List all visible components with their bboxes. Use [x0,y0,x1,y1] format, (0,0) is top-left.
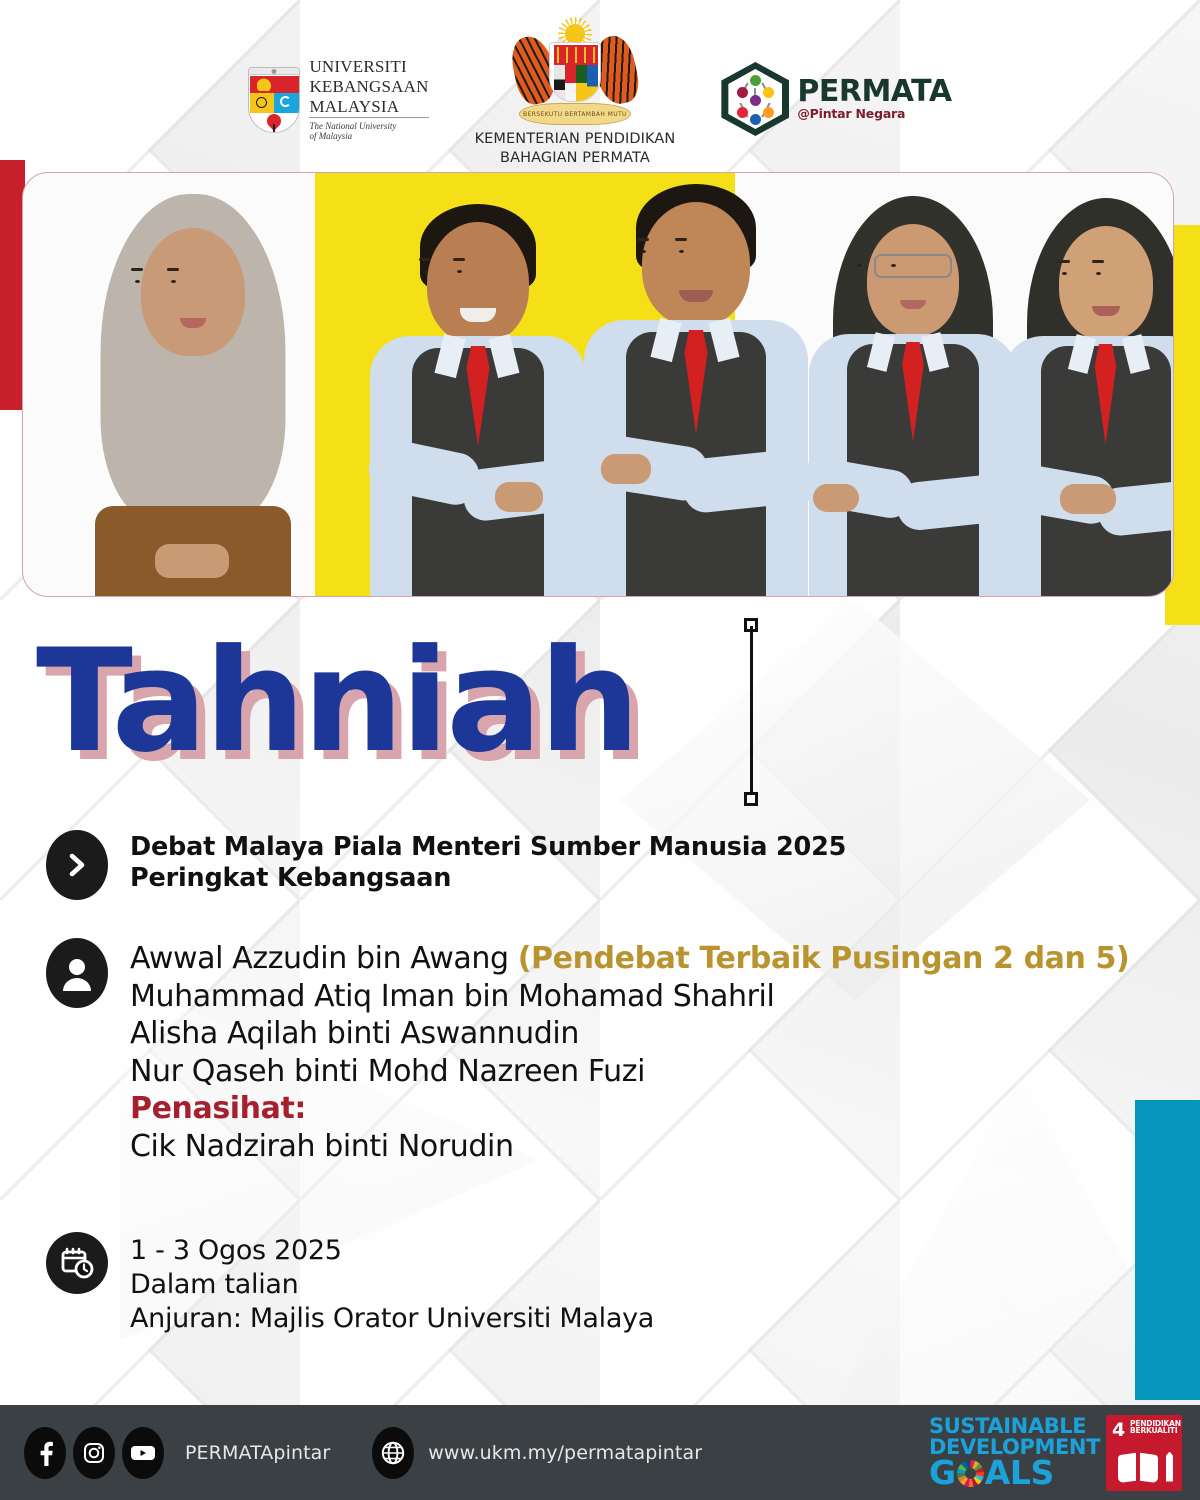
sdg-word-sustainable: SUSTAINABLE [929,1417,1100,1436]
event-mode: Dalam talian [130,1268,654,1302]
instagram-icon[interactable] [73,1427,115,1479]
jata-negara-icon: BERSEKUTU BERTAMBAH MUTU [500,22,650,127]
permata-hexagon-icon [721,62,789,136]
social-icons: PERMATApintar [24,1427,330,1479]
ukm-logo: UNIVERSITI KEBANGSAAN MALAYSIA The Natio… [248,22,428,141]
ukm-line-1: UNIVERSITI [309,58,428,75]
event-title-line-2: Peringkat Kebangsaan [130,863,846,894]
chevron-right-icon [46,830,108,900]
youtube-icon[interactable] [122,1427,164,1479]
calendar-clock-icon [46,1232,108,1294]
advisor-name: Cik Nadzirah binti Norudin [130,1128,1129,1166]
participant-name-1-text: Awwal Azzudin bin Awang [130,941,518,976]
team-photo [22,172,1174,597]
details-block: 1 - 3 Ogos 2025 Dalam talian Anjuran: Ma… [46,1232,654,1336]
sdg-word-goals: G ALS [929,1458,1100,1488]
event-date: 1 - 3 Ogos 2025 [130,1234,654,1268]
open-book-icon [1118,1452,1158,1482]
website-url: www.ukm.my/permatapintar [428,1442,702,1464]
crest-motto: BERSEKUTU BERTAMBAH MUTU [523,111,627,118]
poster-canvas: UNIVERSITI KEBANGSAAN MALAYSIA The Natio… [0,0,1200,1500]
handle-line [750,626,753,798]
participant-name-2: Muhammad Atiq Iman bin Mohamad Shahril [130,978,1129,1016]
participant-1-award: (Pendebat Terbaik Pusingan 2 dan 5) [518,941,1130,976]
globe-icon[interactable] [372,1427,414,1479]
handle-bottom-cap[interactable] [744,792,758,806]
person-icon [46,938,108,1008]
sdg-logo: SUSTAINABLE DEVELOPMENT G ALS 4 PENDIDIK… [929,1415,1182,1491]
ministry-line-2: BAHAGIAN PERMATA [475,149,676,168]
text-selection-handle[interactable] [744,618,758,806]
advisor-label: Penasihat: [130,1090,1129,1128]
person-debater-3 [793,184,1033,596]
social-handle: PERMATApintar [185,1442,330,1464]
facebook-icon[interactable] [24,1427,66,1479]
person-debater-4 [998,188,1174,596]
headline-block: Tahniah [36,632,637,771]
ministry-line-1: KEMENTERIAN PENDIDIKAN [475,130,676,149]
pencil-icon [1166,1452,1173,1482]
page-title: Tahniah [36,632,637,771]
permata-tagline: @Pintar Negara [797,108,951,120]
permata-wordmark: PERMATA [797,78,951,107]
event-title-line-1: Debat Malaya Piala Menteri Sumber Manusi… [130,832,846,863]
ukm-line-3: MALAYSIA [309,98,428,118]
event-organiser: Anjuran: Majlis Orator Universiti Malaya [130,1302,654,1336]
sdg-colour-wheel-icon [957,1460,984,1487]
accent-bar-teal-right [1135,1100,1200,1400]
participant-name-1: Awwal Azzudin bin Awang (Pendebat Terbai… [130,940,1129,978]
event-block: Debat Malaya Piala Menteri Sumber Manusi… [46,830,846,900]
person-debater-1 [353,196,603,596]
ministry-logo: BERSEKUTU BERTAMBAH MUTU KEMENTERIAN PEN… [475,22,676,168]
sdg-goal-caption: PENDIDIKAN BERKUALITI [1130,1420,1181,1436]
permata-logo: PERMATA @Pintar Negara [721,22,951,136]
logo-row: UNIVERSITI KEBANGSAAN MALAYSIA The Natio… [0,22,1200,162]
ukm-line-2: KEBANGSAAN [309,78,428,95]
person-advisor [63,176,323,596]
ukm-tagline: The National University of Malaysia [309,121,428,141]
participant-name-4: Nur Qaseh binti Mohd Nazreen Fuzi [130,1053,1129,1091]
sdg-goals-als: ALS [985,1458,1054,1488]
sdg-goals-g: G [929,1458,956,1488]
footer-bar: PERMATApintar www.ukm.my/permatapintar S… [0,1405,1200,1500]
participant-name-3: Alisha Aqilah binti Aswannudin [130,1015,1129,1053]
person-debater-2 [571,178,821,596]
ukm-crest-icon [248,67,300,133]
sdg-goal-number: 4 [1112,1419,1125,1441]
sdg-goal-4-tile: 4 PENDIDIKAN BERKUALITI [1106,1415,1182,1491]
participants-block: Awwal Azzudin bin Awang (Pendebat Terbai… [46,938,1129,1165]
